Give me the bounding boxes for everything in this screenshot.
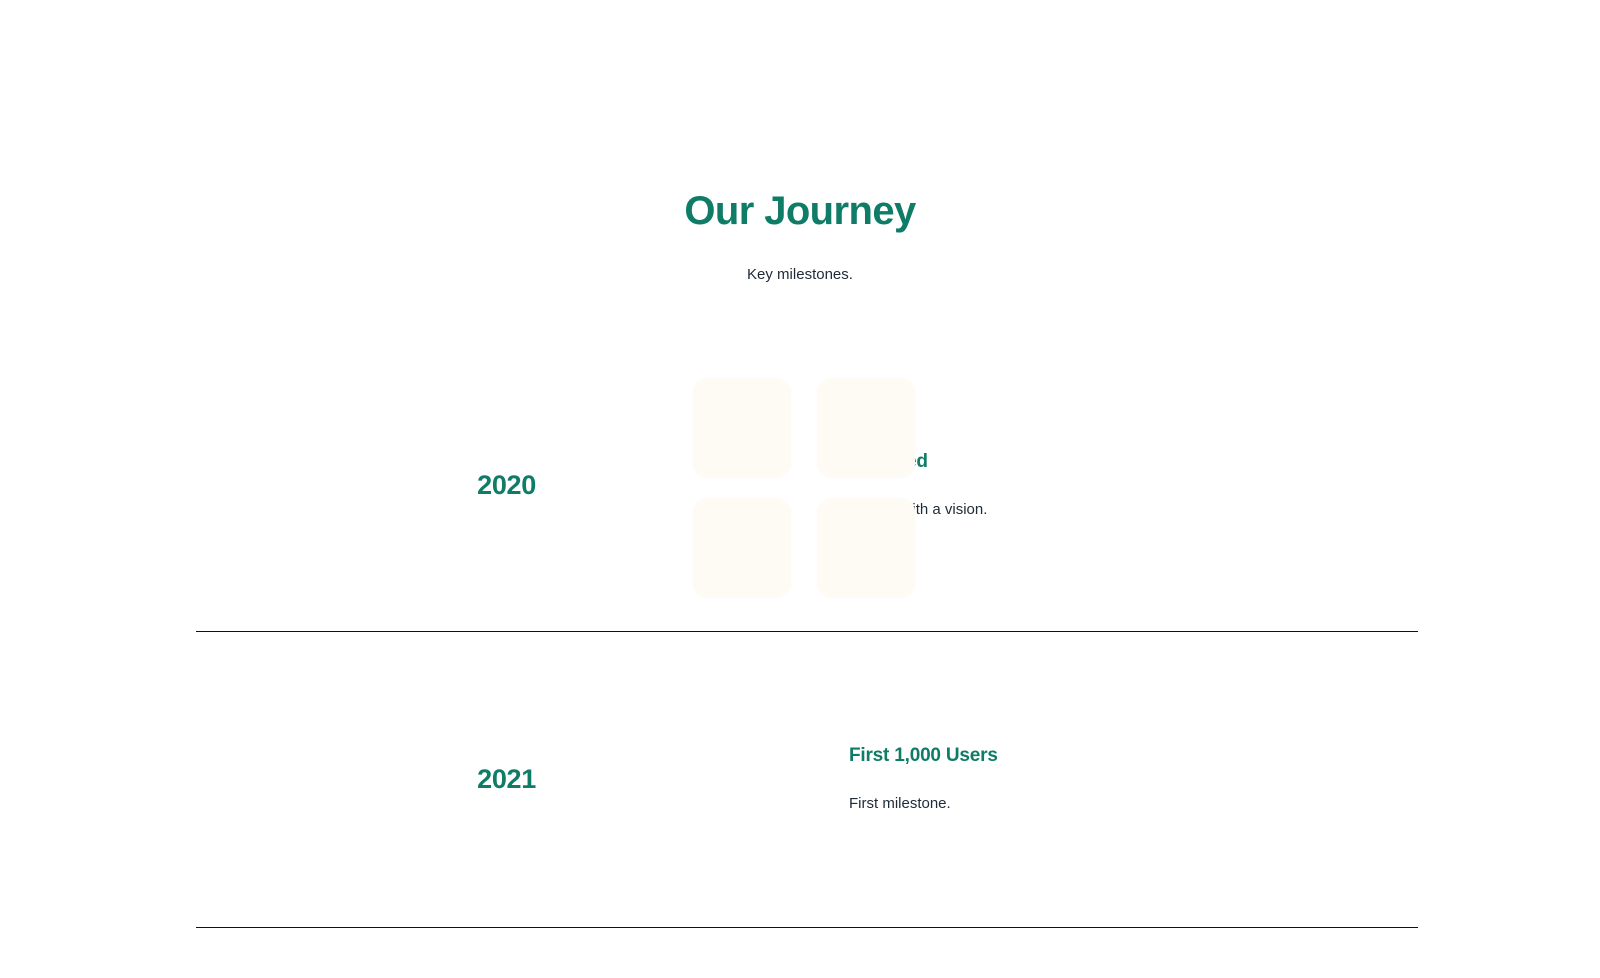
- timeline-entry-description: Started with a vision.: [849, 498, 1418, 521]
- timeline-page: Our Journey Key milestones. 2020 Founded…: [0, 0, 1600, 978]
- timeline-row: 2020 Founded Started with a vision.: [196, 340, 1418, 632]
- page-subtitle: Key milestones.: [0, 264, 1600, 287]
- section-header: Our Journey Key milestones.: [0, 188, 1600, 287]
- timeline-year: 2021: [196, 763, 540, 795]
- timeline-entry: First 1,000 Users First milestone.: [845, 744, 1418, 815]
- timeline-list: 2020 Founded Started with a vision. 2021…: [196, 340, 1418, 928]
- page-title: Our Journey: [0, 188, 1600, 234]
- decorative-tile-1: [693, 378, 791, 478]
- timeline-entry-description: First milestone.: [849, 792, 1418, 815]
- timeline-entry-title: First 1,000 Users: [849, 744, 1418, 769]
- decorative-tile-3: [693, 498, 791, 598]
- timeline-row: 2021 First 1,000 Users First milestone.: [196, 632, 1418, 928]
- timeline-entry-title: Founded: [849, 450, 1418, 475]
- timeline-entry: Founded Started with a vision.: [845, 450, 1418, 521]
- timeline-year: 2020: [196, 469, 540, 501]
